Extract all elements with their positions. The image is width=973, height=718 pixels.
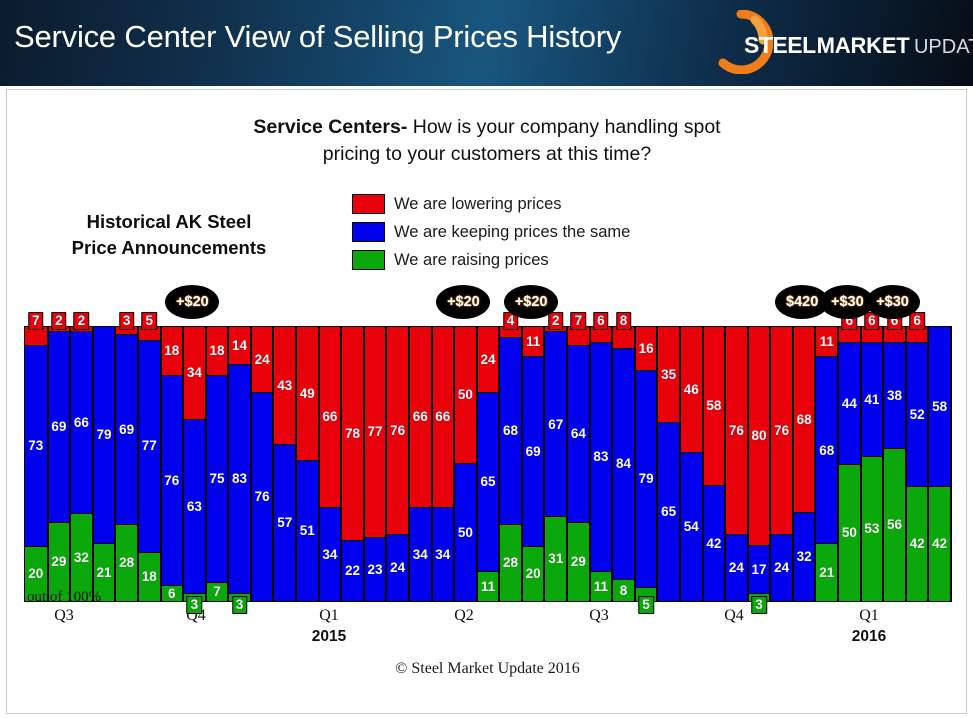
bar-segment-value: 69 <box>119 423 134 437</box>
bar-segment-red: 3 <box>116 327 137 335</box>
bar-segment-value: 41 <box>864 393 879 407</box>
bar-segment-red: 68 <box>794 327 815 513</box>
bar-segment-green: 5 <box>636 587 657 601</box>
bar-segment-value: 28 <box>503 556 518 570</box>
bar-segment-green: 42 <box>929 486 950 601</box>
bar-segment-value: 21 <box>819 566 834 580</box>
bar-segment-value: 50 <box>842 526 857 540</box>
bar-segment-value: 65 <box>661 505 676 519</box>
price-badge: +$20 <box>504 285 558 319</box>
bar-segment-value: 38 <box>887 389 902 403</box>
bar-segment-value: 77 <box>368 425 383 439</box>
bar-segment-value: 8 <box>620 584 628 598</box>
header-banner: Service Center View of Selling Prices Hi… <box>0 0 973 86</box>
bar-segment-red: 18 <box>207 327 228 376</box>
bar-column[interactable]: 8848 <box>612 327 635 601</box>
bar-segment-value: 3 <box>232 596 248 614</box>
bar-segment-blue: 79 <box>94 327 115 543</box>
bar-segment-red: 49 <box>297 327 318 461</box>
bar-segment-value: 64 <box>571 427 586 441</box>
bar-segment-value: 42 <box>932 537 947 551</box>
bar-segment-blue: 83 <box>591 343 612 570</box>
bar-segment-blue: 54 <box>681 453 702 601</box>
bar-column[interactable]: 34633 <box>183 327 206 601</box>
bar-segment-green: 28 <box>116 524 137 601</box>
bar-segment-value: 20 <box>28 567 43 581</box>
bar-segment-red: 50 <box>455 327 476 464</box>
bar-segment-blue: 24 <box>387 535 408 601</box>
bar-segment-red: 14 <box>229 327 250 365</box>
bar-segment-value: 28 <box>119 556 134 570</box>
bar-segment-green: 42 <box>907 486 928 601</box>
bar-segment-value: 84 <box>616 457 631 471</box>
bar-segment-value: 78 <box>345 427 360 441</box>
bar-segment-red: 7 <box>25 327 47 346</box>
bar-segment-value: 18 <box>142 570 157 584</box>
bar-segment-value: 54 <box>684 520 699 534</box>
bar-column[interactable]: 4654 <box>680 327 703 601</box>
bar-segment-red: 16 <box>636 327 657 371</box>
bar-segment-value: 43 <box>277 379 292 393</box>
bar-segment-blue: 34 <box>433 508 454 601</box>
legend-item-0: We are lowering prices <box>352 190 630 218</box>
bar-segment-green: 3 <box>184 593 205 601</box>
bar-column[interactable]: 6634 <box>409 327 432 601</box>
bar-segment-red: 46 <box>681 327 702 453</box>
bar-segment-green: 32 <box>71 513 92 601</box>
bar-segment-blue: 68 <box>500 338 521 524</box>
question-rest: How is your company handling spot <box>407 116 720 138</box>
bar-segment-value: 77 <box>142 439 157 453</box>
bar-segment-red: 66 <box>320 327 341 508</box>
bar-segment-blue: 73 <box>25 346 47 546</box>
bar-segment-value: 14 <box>232 339 247 353</box>
bar-column[interactable]: 116821 <box>815 327 838 601</box>
bar-segment-value: 21 <box>97 566 112 580</box>
bar-segment-blue: 69 <box>523 357 544 546</box>
legend-label-2: We are raising prices <box>394 251 549 270</box>
bar-segment-red: 76 <box>726 327 747 535</box>
side-label-line1: Historical AK Steel <box>87 211 252 232</box>
bar-column[interactable]: 4951 <box>296 327 319 601</box>
bar-column[interactable]: 6832 <box>793 327 816 601</box>
bar-segment-value: 11 <box>481 580 495 594</box>
bar-column[interactable]: 7624 <box>386 327 409 601</box>
bar-segment-value: 24 <box>390 561 405 575</box>
bar-segment-red: 24 <box>478 327 499 393</box>
bar-segment-blue: 34 <box>410 508 431 601</box>
bar-segment-value: 24 <box>774 561 789 575</box>
bar-segment-blue: 24 <box>726 535 747 601</box>
bar-column[interactable]: 36928 <box>115 327 138 601</box>
bar-segment-green: 8 <box>613 579 634 601</box>
bar-segment-value: 34 <box>187 366 202 380</box>
bar-segment-value: 68 <box>819 444 834 458</box>
bar-segment-red: 76 <box>387 327 408 535</box>
bar-segment-red: 78 <box>342 327 363 541</box>
bar-segment-value: 24 <box>729 561 744 575</box>
bar-segment-green: 53 <box>862 456 883 601</box>
bar-segment-value: 56 <box>887 518 902 532</box>
bar-segment-value: 58 <box>932 400 947 414</box>
bar-segment-green: 50 <box>839 464 860 601</box>
bar-segment-blue: 34 <box>320 508 341 601</box>
bar-segment-blue: 76 <box>252 393 273 601</box>
bar-segment-value: 69 <box>51 420 66 434</box>
bar-segment-value: 32 <box>74 551 89 565</box>
bar-segment-value: 3 <box>187 596 203 614</box>
legend-item-2: We are raising prices <box>352 246 630 274</box>
bar-segment-red: 6 <box>884 327 905 343</box>
bar-column[interactable]: 64450 <box>838 327 861 601</box>
year-label: 2015 <box>312 628 346 646</box>
quarter-label: Q3 <box>54 607 74 625</box>
bar-segment-green: 18 <box>139 552 160 601</box>
bar-segment-blue: 83 <box>229 365 250 592</box>
question-bold-prefix: Service Centers- <box>253 116 407 138</box>
bar-segment-value: 11 <box>820 335 834 349</box>
bar-segment-value: 29 <box>51 555 66 569</box>
bar-segment-blue: 69 <box>116 335 137 524</box>
bar-segment-red: 6 <box>591 327 612 343</box>
page-title: Service Center View of Selling Prices Hi… <box>14 19 621 55</box>
bar-segment-blue: 51 <box>297 461 318 601</box>
bar-segment-value: 6 <box>909 312 925 330</box>
bar-segment-red: 34 <box>184 327 205 420</box>
bar-segment-value: 20 <box>526 567 541 581</box>
bar-segment-red: 76 <box>771 327 792 535</box>
bar-segment-red: 35 <box>658 327 679 423</box>
bar-segment-value: 17 <box>751 563 766 577</box>
bar-column[interactable]: 64153 <box>861 327 884 601</box>
bar-segment-value: 42 <box>910 537 925 551</box>
logo-steel-word: STEEL <box>743 32 817 58</box>
chart-frame: Service Centers- How is your company han… <box>6 89 967 714</box>
bar-segment-value: 51 <box>300 524 315 538</box>
bar-segment-value: 3 <box>751 596 767 614</box>
bar-column[interactable]: 7822 <box>341 327 364 601</box>
bar-segment-blue: 75 <box>207 376 228 582</box>
bar-column[interactable]: 26929 <box>48 327 71 601</box>
bar-segment-value: 3 <box>119 312 135 330</box>
bar-segment-value: 5 <box>638 596 654 614</box>
bar-segment-green: 11 <box>591 571 612 601</box>
bar-segment-blue: 23 <box>365 538 386 601</box>
bar-segment-blue: 64 <box>568 346 589 521</box>
bar-segment-blue: 42 <box>704 486 725 601</box>
bar-segment-value: 76 <box>774 424 789 438</box>
bar-column[interactable]: 18766 <box>161 327 184 601</box>
bar-segment-value: 34 <box>322 548 337 562</box>
bar-segment-value: 50 <box>458 388 473 402</box>
bar-segment-value: 44 <box>842 397 857 411</box>
bar-segment-red: 6 <box>907 327 928 343</box>
bar-segment-value: 16 <box>639 342 654 356</box>
bar-segment-blue: 68 <box>816 357 837 543</box>
logo-market-word: MARKET <box>817 33 910 58</box>
bar-segment-value: 79 <box>639 472 654 486</box>
bar-segment-value: 6 <box>168 587 176 601</box>
bar-segment-value: 66 <box>74 416 89 430</box>
bar-column[interactable]: 80173 <box>748 327 771 601</box>
bar-segment-value: 35 <box>661 368 676 382</box>
bar-column[interactable]: 5842 <box>928 327 951 601</box>
legend-swatch-2 <box>352 250 385 270</box>
bar-segment-value: 76 <box>255 490 270 504</box>
bar-segment-green: 56 <box>884 448 905 601</box>
bar-segment-value: 23 <box>368 563 383 577</box>
bar-segment-blue: 66 <box>71 332 92 513</box>
bar-segment-blue: 65 <box>658 423 679 601</box>
bar-segment-value: 76 <box>390 424 405 438</box>
bar-segment-red: 80 <box>749 327 770 546</box>
bar-segment-value: 53 <box>864 522 879 536</box>
bar-segment-red: 43 <box>274 327 295 445</box>
bar-segment-value: 7 <box>28 312 44 330</box>
bar-segment-blue: 24 <box>771 535 792 601</box>
bar-segment-value: 58 <box>706 399 721 413</box>
bar-segment-blue: 76 <box>162 376 183 584</box>
bar-segment-red: 6 <box>839 327 860 343</box>
bar-segment-blue: 65 <box>478 393 499 571</box>
bar-segment-value: 79 <box>97 428 112 442</box>
bar-segment-value: 2 <box>74 312 90 330</box>
bar-segment-blue: 58 <box>929 327 950 486</box>
bar-segment-value: 67 <box>548 418 563 432</box>
steel-market-update-logo: STEELMARKET UPDATE <box>699 8 969 78</box>
bar-column[interactable]: 116920 <box>522 327 545 601</box>
bar-segment-value: 2 <box>548 312 564 330</box>
bar-segment-value: 7 <box>571 312 587 330</box>
bar-segment-value: 76 <box>164 474 179 488</box>
bar-segment-value: 11 <box>594 580 608 594</box>
bar-column[interactable]: 7921 <box>93 327 116 601</box>
bar-segment-value: 32 <box>797 550 812 564</box>
bar-column[interactable]: 68311 <box>590 327 613 601</box>
bar-segment-green: 31 <box>545 516 566 601</box>
bar-segment-value: 75 <box>209 472 224 486</box>
legend-label-0: We are lowering prices <box>394 195 562 214</box>
bar-segment-green: 21 <box>816 543 837 601</box>
bar-segment-blue: 32 <box>794 513 815 601</box>
bar-segment-green: 20 <box>523 546 544 601</box>
bar-segment-value: 57 <box>277 516 292 530</box>
quarter-label: Q4 <box>724 607 744 625</box>
question-line2: pricing to your customers at this time? <box>323 143 651 165</box>
quarter-label: Q3 <box>589 607 609 625</box>
bar-segment-value: 49 <box>300 387 315 401</box>
bar-segment-value: 6 <box>593 312 609 330</box>
bar-segment-blue: 50 <box>455 464 476 601</box>
bar-column[interactable]: 3565 <box>657 327 680 601</box>
bar-segment-blue: 41 <box>862 343 883 455</box>
chart-question-title: Service Centers- How is your company han… <box>127 114 847 168</box>
bar-segment-value: 68 <box>797 413 812 427</box>
quarter-label: Q1 <box>319 607 339 625</box>
bar-segment-value: 80 <box>751 429 766 443</box>
bar-segment-blue: 22 <box>342 541 363 601</box>
bar-segment-blue: 79 <box>636 371 657 587</box>
logo-update-word: UPDATE <box>914 36 973 58</box>
bar-segment-value: 63 <box>187 500 202 514</box>
bar-segment-blue: 44 <box>839 343 860 464</box>
bar-segment-value: 29 <box>571 555 586 569</box>
bar-column[interactable]: 16795 <box>635 327 658 601</box>
bar-segment-value: 46 <box>684 383 699 397</box>
bar-segment-blue: 84 <box>613 349 634 579</box>
bar-segment-value: 83 <box>232 472 247 486</box>
bar-segment-blue: 63 <box>184 420 205 593</box>
bar-segment-value: 24 <box>255 353 270 367</box>
bar-segment-value: 8 <box>616 312 632 330</box>
bar-segment-blue: 38 <box>884 343 905 447</box>
bar-column[interactable]: 65242 <box>906 327 929 601</box>
bar-segment-red: 11 <box>523 327 544 357</box>
legend-swatch-0 <box>352 194 385 214</box>
price-badge: +$20 <box>165 285 219 319</box>
bar-segment-red: 6 <box>862 327 883 343</box>
bar-segment-value: 42 <box>706 537 721 551</box>
bar-segment-value: 18 <box>209 344 224 358</box>
bar-segment-green: 28 <box>500 524 521 601</box>
bar-segment-value: 5 <box>141 312 157 330</box>
copyright-footer: © Steel Market Update 2016 <box>7 660 968 678</box>
bar-column[interactable]: 76429 <box>567 327 590 601</box>
bar-segment-red: 77 <box>365 327 386 538</box>
bar-column[interactable]: 6634 <box>432 327 455 601</box>
bar-column[interactable]: 5842 <box>703 327 726 601</box>
bar-column[interactable]: 18757 <box>206 327 229 601</box>
bar-segment-red: 66 <box>410 327 431 508</box>
bar-column[interactable]: 5050 <box>454 327 477 601</box>
bar-column[interactable]: 63856 <box>883 327 906 601</box>
bar-segment-green: 11 <box>478 571 499 601</box>
logo-text: STEELMARKET UPDATE <box>743 32 973 59</box>
out-of-100-note: out of 100% <box>27 589 101 606</box>
bar-segment-value: 76 <box>729 424 744 438</box>
bar-segment-blue: 69 <box>49 332 70 521</box>
bar-segment-value: 11 <box>526 335 540 349</box>
bar-column[interactable]: 6634 <box>319 327 342 601</box>
chart-page: Service Center View of Selling Prices Hi… <box>0 0 973 718</box>
bar-segment-value: 34 <box>435 548 450 562</box>
bar-segment-value: 66 <box>322 410 337 424</box>
bar-segment-red: 8 <box>613 327 634 349</box>
bar-segment-value: 83 <box>593 450 608 464</box>
bar-segment-red: 58 <box>704 327 725 486</box>
quarter-label: Q2 <box>454 607 474 625</box>
bar-segment-value: 31 <box>548 552 563 566</box>
bar-segment-green: 7 <box>207 582 228 601</box>
historical-ak-steel-label: Historical AK Steel Price Announcements <box>45 209 293 261</box>
bar-segment-value: 50 <box>458 526 473 540</box>
quarter-label: Q1 <box>859 607 879 625</box>
legend-swatch-1 <box>352 222 385 242</box>
bar-column[interactable]: 7624 <box>770 327 793 601</box>
bar-segment-blue: 17 <box>749 546 770 593</box>
bar-segment-value: 34 <box>413 548 428 562</box>
bar-segment-red: 11 <box>816 327 837 357</box>
bar-segment-value: 52 <box>910 408 925 422</box>
bar-segment-green: 6 <box>162 585 183 601</box>
bar-column[interactable]: 26632 <box>70 327 93 601</box>
bar-segment-blue: 67 <box>545 332 566 516</box>
bar-segment-value: 66 <box>413 410 428 424</box>
bar-column[interactable]: 77320 <box>25 327 48 601</box>
bar-segment-value: 18 <box>164 344 179 358</box>
bar-segment-green: 29 <box>568 522 589 601</box>
bar-segment-green: 3 <box>749 593 770 601</box>
bar-segment-value: 24 <box>480 353 495 367</box>
bar-segment-red: 24 <box>252 327 273 393</box>
bar-segment-value: 68 <box>503 424 518 438</box>
legend: We are lowering pricesWe are keeping pri… <box>352 190 630 274</box>
bar-segment-red: 7 <box>568 327 589 346</box>
bar-segment-value: 73 <box>28 439 43 453</box>
bar-segment-green: 3 <box>229 593 250 601</box>
bar-segment-red: 5 <box>139 327 160 341</box>
bar-segment-value: 69 <box>526 445 541 459</box>
bar-column[interactable]: 7723 <box>364 327 387 601</box>
bar-column[interactable]: 14833 <box>228 327 251 601</box>
bar-column[interactable]: 2476 <box>251 327 274 601</box>
bar-segment-red: 4 <box>500 327 521 338</box>
bar-segment-value: 7 <box>213 585 221 599</box>
bar-column[interactable]: 4357 <box>273 327 296 601</box>
bar-segment-red: 18 <box>162 327 183 376</box>
bar-column[interactable]: 26731 <box>544 327 567 601</box>
legend-label-1: We are keeping prices the same <box>394 223 630 242</box>
stacked-bar-plot: 7732026929266327921369285771818766346331… <box>24 326 952 602</box>
bar-column[interactable]: 57718 <box>138 327 161 601</box>
legend-item-1: We are keeping prices the same <box>352 218 630 246</box>
bar-segment-value: 66 <box>435 410 450 424</box>
side-label-line2: Price Announcements <box>72 237 267 258</box>
bar-segment-blue: 57 <box>274 445 295 601</box>
bar-segment-value: 65 <box>480 475 495 489</box>
price-badge: +$30 <box>866 285 920 319</box>
bar-column[interactable]: 246511 <box>477 327 500 601</box>
price-badge: +$20 <box>436 285 490 319</box>
bar-column[interactable]: 7624 <box>725 327 748 601</box>
year-label: 2016 <box>852 628 886 646</box>
bar-column[interactable]: 46828 <box>499 327 522 601</box>
bar-segment-value: 2 <box>51 312 67 330</box>
bar-segment-value: 22 <box>345 564 360 578</box>
bar-segment-red: 66 <box>433 327 454 508</box>
bar-segment-blue: 52 <box>907 343 928 485</box>
bar-segment-blue: 77 <box>139 341 160 552</box>
